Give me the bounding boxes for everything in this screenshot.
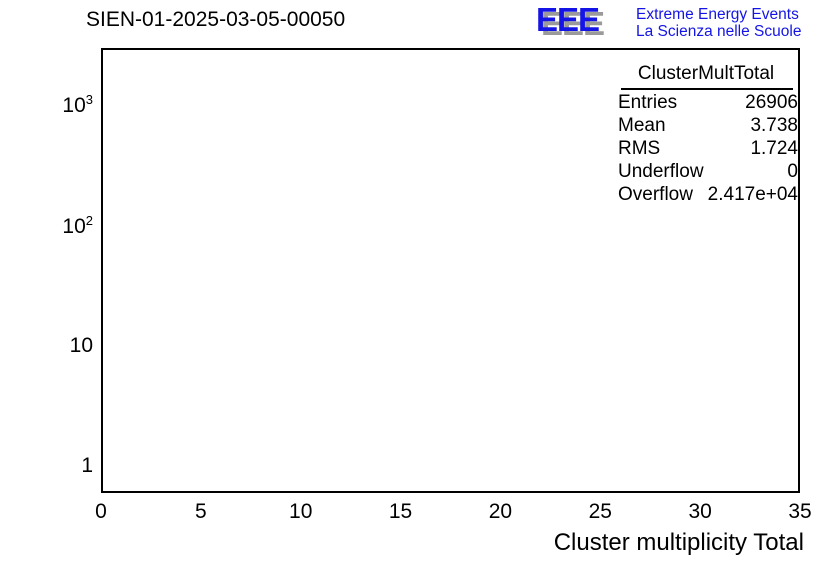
- stats-row: RMS1.724: [612, 138, 800, 162]
- stats-row: Mean3.738: [612, 115, 800, 139]
- y-axis-tick-label: 102: [62, 213, 93, 239]
- stats-row-label: Overflow: [618, 184, 693, 206]
- eee-logo: EEE EEE Extreme Energy Events La Scienza…: [536, 4, 832, 40]
- stats-row-value: 1.724: [750, 138, 798, 160]
- x-axis-tick-label: 35: [788, 500, 811, 524]
- eee-logo-line2: La Scienza nelle Scuole: [636, 23, 801, 41]
- stats-row: Underflow0: [612, 161, 800, 185]
- y-axis-tick-label: 103: [62, 92, 93, 118]
- stats-row: Entries26906: [612, 92, 800, 116]
- x-axis-tick-label: 0: [95, 500, 107, 524]
- x-axis-tick-label: 10: [289, 500, 312, 524]
- stats-row-label: Underflow: [618, 161, 704, 183]
- stats-row-label: Mean: [618, 115, 666, 137]
- stats-row-label: Entries: [618, 92, 677, 114]
- stats-row-value: 0: [787, 161, 798, 183]
- stats-box-title: ClusterMultTotal: [612, 63, 800, 85]
- y-axis-tick-label: 1: [81, 454, 93, 478]
- stats-title-underline: [621, 88, 793, 90]
- y-axis-tick-label: 10: [70, 334, 93, 358]
- stats-row-value: 26906: [745, 92, 798, 114]
- x-axis-tick-label: 30: [688, 500, 711, 524]
- stats-row-value: 3.738: [750, 115, 798, 137]
- stats-row-value: 2.417e+04: [708, 184, 798, 206]
- stats-row-label: RMS: [618, 138, 660, 160]
- x-axis-tick-label: 15: [389, 500, 412, 524]
- x-axis-tick-label: 25: [589, 500, 612, 524]
- page-title: SIEN-01-2025-03-05-00050: [86, 8, 345, 32]
- eee-logo-mark: EEE EEE: [536, 4, 634, 38]
- x-axis-tick-label: 5: [195, 500, 207, 524]
- eee-logo-letters: EEE: [536, 5, 599, 35]
- eee-logo-line1: Extreme Energy Events: [636, 6, 799, 24]
- stats-row: Overflow2.417e+04: [612, 184, 800, 208]
- root-canvas: SIEN-01-2025-03-05-00050 EEE EEE Extreme…: [0, 0, 836, 572]
- x-axis-tick-label: 20: [489, 500, 512, 524]
- x-axis-title: Cluster multiplicity Total: [554, 529, 804, 557]
- stats-box: ClusterMultTotal Entries26906Mean3.738RM…: [612, 62, 800, 204]
